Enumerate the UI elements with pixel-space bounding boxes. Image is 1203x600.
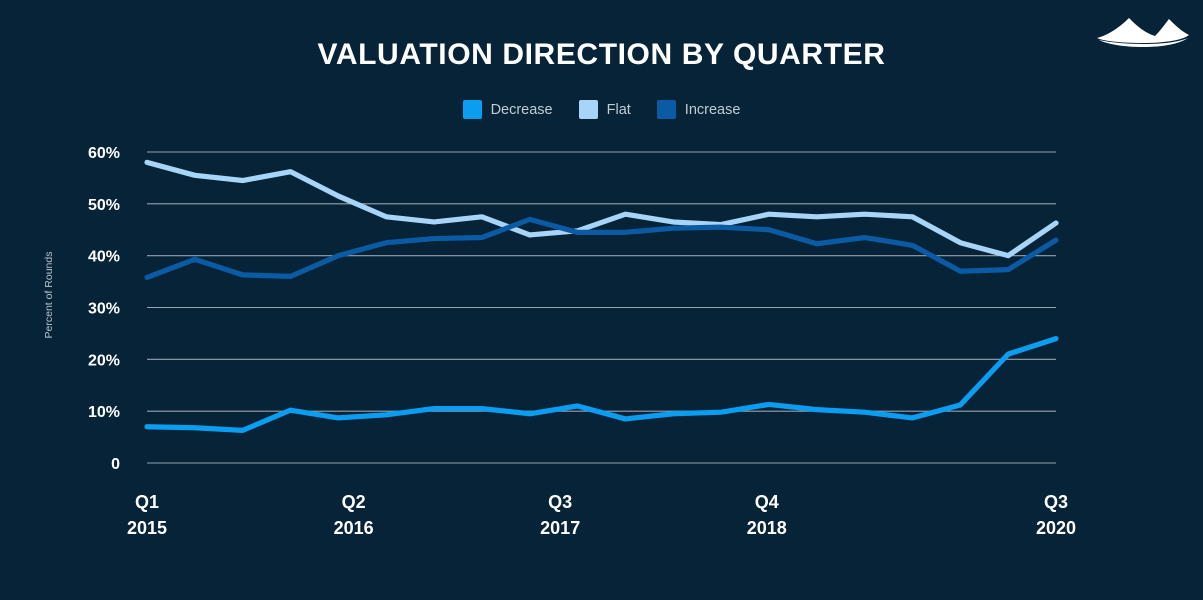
chart-svg: 60%50%40%30%20%10%0 Percent of Rounds Q1… bbox=[0, 0, 1203, 600]
x-axis-tick-year: 2017 bbox=[540, 518, 580, 538]
y-axis-label: Percent of Rounds bbox=[43, 252, 55, 339]
x-axis-tick-year: 2015 bbox=[127, 518, 167, 538]
y-axis-tick-label: 10% bbox=[88, 404, 120, 421]
x-axis-tick-year: 2018 bbox=[747, 518, 787, 538]
y-axis-tick-label: 0 bbox=[111, 456, 120, 473]
y-axis-label-text: Percent of Rounds bbox=[43, 252, 55, 339]
series-line-increase[interactable] bbox=[147, 219, 1056, 277]
y-axis-tick-label: 50% bbox=[88, 197, 120, 214]
x-axis-ticks: Q12015Q22016Q32017Q42018Q32020 bbox=[127, 492, 1076, 538]
y-axis-tick-label: 20% bbox=[88, 352, 120, 369]
series-lines bbox=[147, 162, 1056, 430]
plot-area: 60%50%40%30%20%10%0 Percent of Rounds Q1… bbox=[0, 0, 1203, 600]
y-axis-tick-label: 30% bbox=[88, 301, 120, 318]
y-axis-ticks: 60%50%40%30%20%10%0 bbox=[88, 145, 120, 473]
x-axis-tick-quarter: Q3 bbox=[548, 492, 572, 512]
chart-root: VALUATION DIRECTION BY QUARTER Decrease … bbox=[0, 0, 1203, 600]
x-axis-tick-year: 2020 bbox=[1036, 518, 1076, 538]
series-line-flat[interactable] bbox=[147, 162, 1056, 255]
series-line-decrease[interactable] bbox=[147, 339, 1056, 431]
x-axis-tick-quarter: Q4 bbox=[755, 492, 779, 512]
x-axis-tick-quarter: Q1 bbox=[135, 492, 159, 512]
x-axis-tick-quarter: Q3 bbox=[1044, 492, 1068, 512]
y-axis-tick-label: 40% bbox=[88, 249, 120, 266]
x-axis-tick-quarter: Q2 bbox=[342, 492, 366, 512]
x-axis-tick-year: 2016 bbox=[334, 518, 374, 538]
y-axis-tick-label: 60% bbox=[88, 145, 120, 162]
